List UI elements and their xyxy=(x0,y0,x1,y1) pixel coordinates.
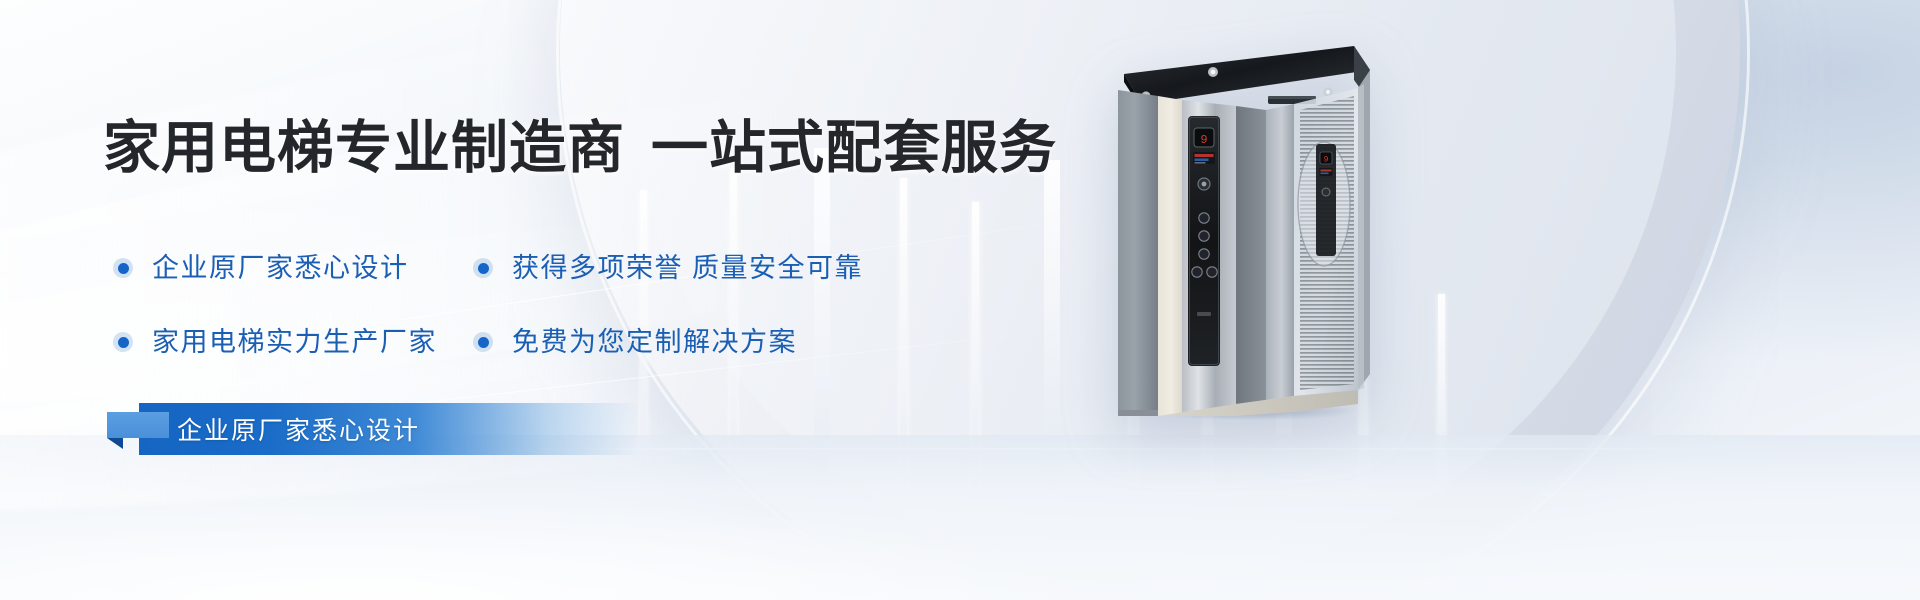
feature-row-2: 家用电梯实力生产厂家 免费为您定制解决方案 xyxy=(108,326,988,358)
feature-item-3: 家用电梯实力生产厂家 xyxy=(108,326,468,358)
feature-label-1: 企业原厂家悉心设计 xyxy=(152,252,409,284)
home-elevator-cabin-photo: 9 9 xyxy=(1118,44,1374,416)
highlight-ribbon: 企业原厂家悉心设计 xyxy=(139,403,639,455)
ribbon-fold-shape xyxy=(107,438,123,449)
headline-part-1: 家用电梯专业制造商 xyxy=(103,116,625,180)
promo-banner: 9 9 xyxy=(0,0,1920,600)
page-title: 家用电梯专业制造商一站式配套服务 xyxy=(103,113,1057,183)
headline-part-2: 一站式配套服务 xyxy=(651,116,1057,180)
feature-item-1: 企业原厂家悉心设计 xyxy=(108,252,468,284)
feature-item-4: 免费为您定制解决方案 xyxy=(468,326,888,358)
feature-row-1: 企业原厂家悉心设计 获得多项荣誉 质量安全可靠 xyxy=(108,252,988,284)
svg-text:9: 9 xyxy=(1324,156,1329,165)
bullet-dot-icon xyxy=(468,327,498,357)
ribbon-tab-shape xyxy=(107,412,169,438)
feature-label-2: 获得多项荣誉 质量安全可靠 xyxy=(512,252,863,284)
feature-label-3: 家用电梯实力生产厂家 xyxy=(152,326,437,358)
bullet-dot-icon xyxy=(468,253,498,283)
banner-copy: 家用电梯专业制造商一站式配套服务 企业原厂家悉心设计 获得多项荣誉 质量安全可靠 xyxy=(0,0,1100,600)
svg-text:9: 9 xyxy=(1200,133,1207,147)
feature-item-2: 获得多项荣誉 质量安全可靠 xyxy=(468,252,888,284)
bullet-dot-icon xyxy=(108,253,138,283)
feature-list: 企业原厂家悉心设计 获得多项荣誉 质量安全可靠 家用电梯实力生产厂家 xyxy=(108,252,988,358)
ribbon-label: 企业原厂家悉心设计 xyxy=(177,411,420,447)
bullet-dot-icon xyxy=(108,327,138,357)
feature-label-4: 免费为您定制解决方案 xyxy=(512,326,797,358)
